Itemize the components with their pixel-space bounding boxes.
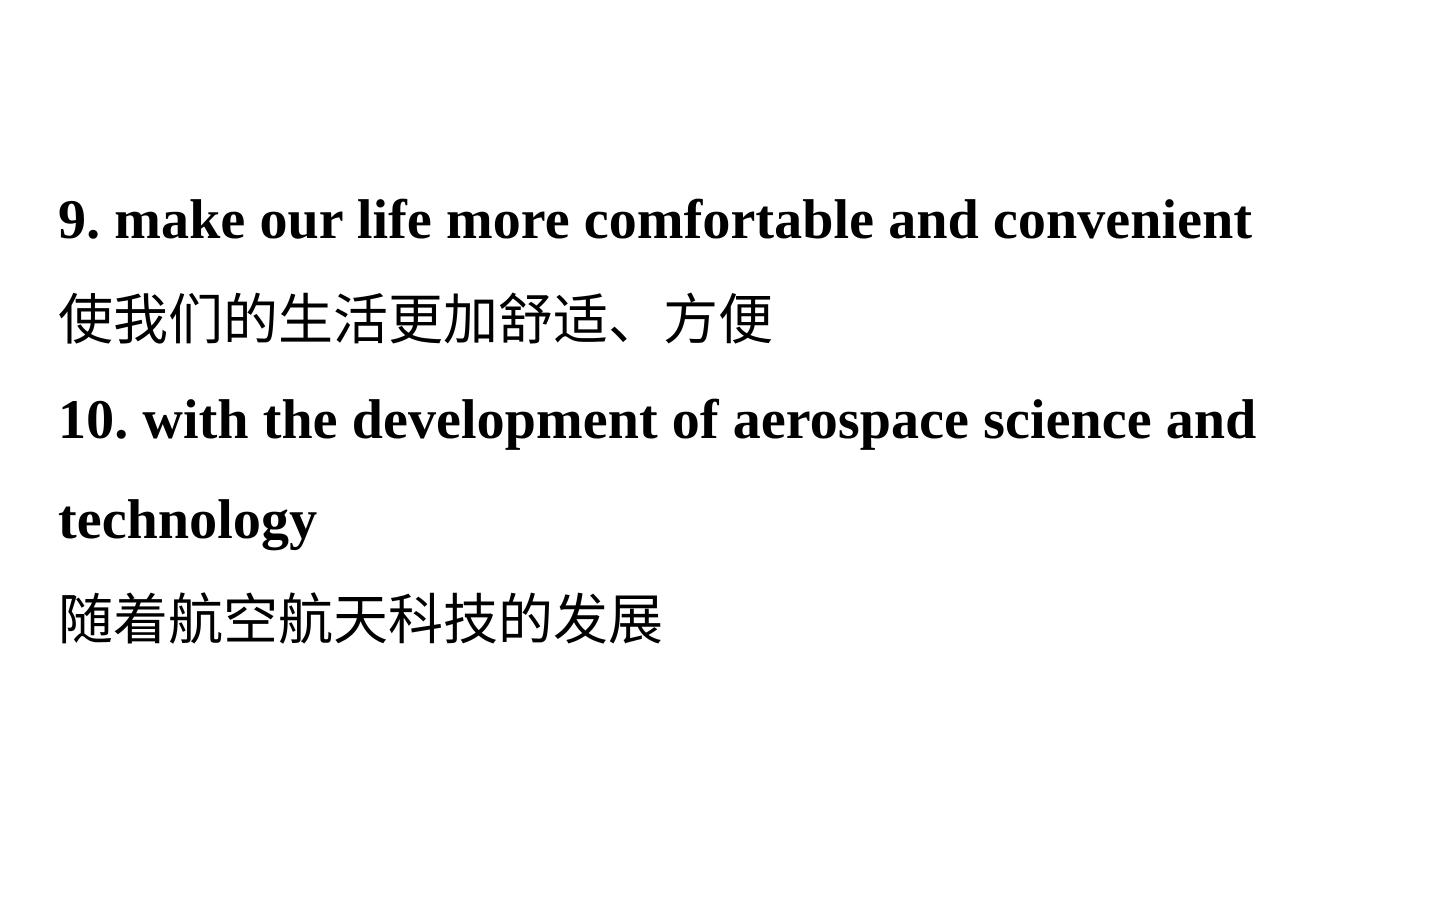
slide-line-item-9-english: 9. make our life more comfortable and co… xyxy=(58,170,1398,270)
slide-line-item-10-english-line-1: 10. with the development of aerospace sc… xyxy=(58,370,1398,470)
slide-line-item-10-english-line-2: technology xyxy=(58,470,1398,570)
slide-line-item-10-chinese: 随着航空航天科技的发展 xyxy=(58,570,1398,670)
slide-line-item-9-chinese: 使我们的生活更加舒适、方便 xyxy=(58,270,1398,370)
slide-canvas: 9. make our life more comfortable and co… xyxy=(0,0,1440,899)
slide-text-block: 9. make our life more comfortable and co… xyxy=(58,170,1398,670)
